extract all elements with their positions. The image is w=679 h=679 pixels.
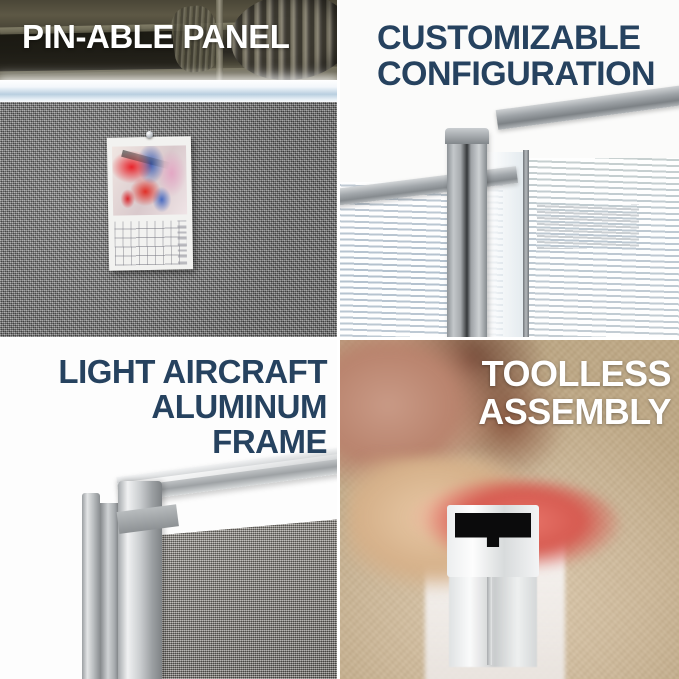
post-cap-icon: [445, 128, 489, 144]
post-icon-middle: [100, 503, 120, 679]
pin-icon: [146, 131, 153, 138]
caption-customizable-configuration: CUSTOMIZABLE CONFIGURATION: [377, 20, 639, 92]
poster-calendar-grid: [114, 220, 187, 265]
panel-toolless-assembly: TOOLLESS ASSEMBLY: [337, 337, 679, 679]
caption-toolless-assembly: TOOLLESS ASSEMBLY: [371, 355, 671, 431]
poster-artwork: [112, 145, 187, 215]
post-icon-rear: [82, 493, 100, 679]
panel-light-aircraft-aluminum-frame: LIGHT AIRCRAFT ALUMINUM FRAME: [0, 337, 337, 679]
caption-pin-able-panel: PIN-ABLE PANEL: [22, 20, 289, 55]
panel-customizable-configuration: CUSTOMIZABLE CONFIGURATION: [337, 0, 679, 337]
panel-pin-able-panel: PIN-ABLE PANEL: [0, 0, 337, 337]
fabric-icon: [162, 519, 337, 679]
feature-grid: PIN-ABLE PANEL CUSTOMIZABLE CONFIGURATIO…: [0, 0, 679, 679]
blinds-icon-right: [527, 158, 679, 337]
mullion-icon: [523, 150, 529, 337]
post-icon: [447, 133, 487, 337]
light-icon: [0, 80, 337, 103]
poster-calendar-sidebar: [177, 220, 187, 263]
caption-light-aircraft-aluminum-frame: LIGHT AIRCRAFT ALUMINUM FRAME: [7, 355, 327, 460]
divider-horizontal: [0, 337, 679, 340]
poster-icon: [107, 136, 193, 270]
